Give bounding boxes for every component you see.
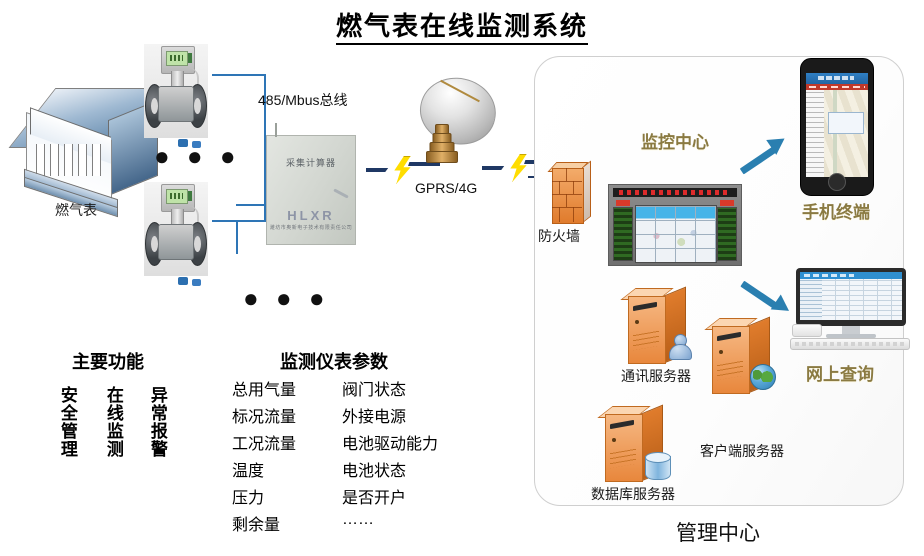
param-left-3: 温度: [232, 457, 342, 481]
table-row: 剩余量 ……: [232, 511, 462, 538]
sites-ellipsis: ● ● ●: [243, 285, 330, 311]
table-row: 压力 是否开户: [232, 484, 462, 511]
bus-label: 485/Mbus总线: [258, 90, 347, 110]
bus-wire-top: [212, 74, 266, 76]
bus-wire-to-collector: [236, 204, 268, 206]
parameters-title: 监测仪表参数: [280, 348, 388, 374]
table-row: 标况流量 外接电源: [232, 403, 462, 430]
parameters-table: 总用气量 阀门状态 标况流量 外接电源 工况流量 电池驱动能力 温度 电池状态 …: [232, 376, 462, 538]
data-collector-device: 采集计算器 HLXR 潍坊市奥新电子技术有限责任公司: [266, 135, 356, 245]
param-left-2: 工况流量: [232, 430, 342, 454]
bus-wire-drop: [236, 220, 238, 254]
video-wall-display: [608, 184, 742, 266]
table-row: 工况流量 电池驱动能力: [232, 430, 462, 457]
server-database-label: 数据库服务器: [591, 484, 675, 504]
meters-ellipsis: ● ● ●: [154, 143, 241, 169]
firewall-icon: [546, 162, 590, 224]
gas-meter-building-label: 燃气表: [55, 200, 97, 220]
server-communication-label: 通讯服务器: [621, 366, 691, 386]
param-left-0: 总用气量: [232, 376, 342, 400]
param-right-1: 外接电源: [342, 403, 462, 427]
param-left-1: 标况流量: [232, 403, 342, 427]
gas-meter-building-icon: [24, 88, 164, 208]
globe-icon: [750, 364, 776, 390]
function-item-1: 在线监测: [104, 386, 122, 458]
mobile-terminal-label: 手机终端: [802, 198, 870, 223]
bus-wire-bottom: [212, 220, 266, 222]
database-icon: [645, 452, 669, 480]
page-title-text: 燃气表在线监测系统: [336, 12, 588, 45]
server-communication: [628, 288, 688, 362]
firewall-label: 防火墙: [538, 226, 580, 246]
param-right-4: 是否开户: [342, 484, 462, 508]
web-query-label: 网上查询: [806, 360, 874, 385]
table-row: 总用气量 阀门状态: [232, 376, 462, 403]
param-left-4: 压力: [232, 484, 342, 508]
collector-logo: HLXR: [267, 208, 355, 223]
page-title: 燃气表在线监测系统: [0, 6, 924, 43]
param-right-0: 阀门状态: [342, 376, 462, 400]
gas-meter-device-bottom: [144, 182, 208, 276]
collector-title: 采集计算器: [267, 156, 355, 169]
mobile-phone-device: [800, 58, 874, 196]
param-right-5: ……: [342, 511, 462, 529]
functions-title: 主要功能: [72, 348, 144, 374]
function-item-2: 异常报警: [148, 386, 166, 458]
management-center-label: 管理中心: [676, 517, 760, 547]
table-row: 温度 电池状态: [232, 457, 462, 484]
phone-home-button: [828, 173, 846, 191]
gprs-label: GPRS/4G: [415, 180, 477, 196]
server-database: [605, 406, 665, 480]
monitor-center-label: 监控中心: [641, 128, 709, 153]
server-client-label: 客户端服务器: [700, 441, 784, 461]
param-right-3: 电池状态: [342, 457, 462, 481]
desktop-computer-device: [790, 268, 912, 354]
param-right-2: 电池驱动能力: [342, 430, 462, 454]
collector-subtitle: 潍坊市奥新电子技术有限责任公司: [267, 224, 355, 231]
user-icon: [668, 334, 690, 358]
function-item-0: 安全管理: [58, 386, 76, 458]
server-client: [712, 318, 772, 392]
param-left-5: 剩余量: [232, 511, 342, 535]
gas-meter-device-top: [144, 44, 208, 138]
